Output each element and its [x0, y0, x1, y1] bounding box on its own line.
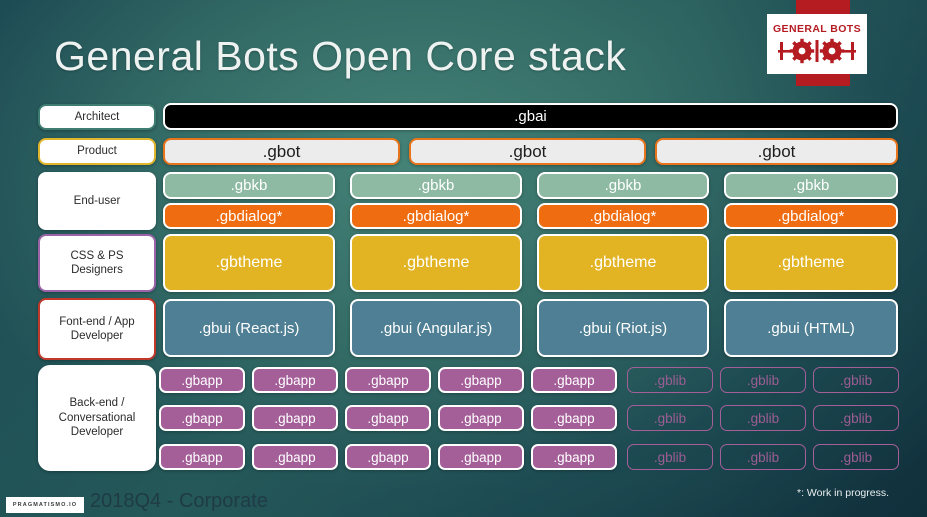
- stack-box-gbkb-1[interactable]: .gbkb: [163, 172, 335, 199]
- stack-box-gblib-r1c2-label: .gblib: [747, 373, 779, 388]
- role-label-front-end-app-developer-line1: Font-end / App: [59, 315, 134, 329]
- slide-canvas: General Bots Open Core stack GENERAL BOT…: [0, 0, 927, 517]
- stack-box-gbkb-3-label: .gbkb: [605, 177, 642, 194]
- role-label-css-ps-designers-line1: CSS & PS: [70, 249, 123, 263]
- stack-box-gbapp-r3c2-label: .gbapp: [274, 450, 315, 465]
- role-label-end-user: End-user: [38, 172, 156, 230]
- stack-box-gbapp-r1c3[interactable]: .gbapp: [345, 367, 431, 393]
- stack-box-gblib-r2c1-label: .gblib: [654, 411, 686, 426]
- stack-box-gblib-r3c3[interactable]: .gblib: [813, 444, 899, 470]
- stack-box-gbapp-r1c3-label: .gbapp: [367, 373, 408, 388]
- stack-box-gbui-react[interactable]: .gbui (React.js): [163, 299, 335, 357]
- stack-box-gblib-r1c1-label: .gblib: [654, 373, 686, 388]
- stack-box-gbkb-3[interactable]: .gbkb: [537, 172, 709, 199]
- stack-box-gbui-riot[interactable]: .gbui (Riot.js): [537, 299, 709, 357]
- stack-box-gbapp-r2c3[interactable]: .gbapp: [345, 405, 431, 431]
- stack-box-gbapp-r3c1[interactable]: .gbapp: [159, 444, 245, 470]
- role-label-back-end-line2: Conversational: [59, 411, 136, 425]
- stack-box-gbapp-r1c2-label: .gbapp: [274, 373, 315, 388]
- stack-box-gbapp-r1c1[interactable]: .gbapp: [159, 367, 245, 393]
- stack-box-gbot-3-label: .gbot: [758, 142, 796, 162]
- stack-box-gbapp-r3c3-label: .gbapp: [367, 450, 408, 465]
- stack-box-gbtheme-1[interactable]: .gbtheme: [163, 234, 335, 292]
- stack-box-gblib-r3c1-label: .gblib: [654, 450, 686, 465]
- stack-box-gblib-r3c1[interactable]: .gblib: [627, 444, 713, 470]
- stack-box-gbapp-r2c2[interactable]: .gbapp: [252, 405, 338, 431]
- stack-box-gbdialog-3-label: .gbdialog*: [590, 208, 657, 225]
- stack-box-gbui-angular-label: .gbui (Angular.js): [380, 320, 493, 337]
- stack-box-gblib-r1c2[interactable]: .gblib: [720, 367, 806, 393]
- stack-box-gbdialog-1[interactable]: .gbdialog*: [163, 203, 335, 229]
- role-label-product: Product: [38, 138, 156, 165]
- stack-box-gbot-3[interactable]: .gbot: [655, 138, 898, 165]
- role-label-css-ps-designers-line2: Designers: [71, 263, 123, 277]
- stack-box-gbdialog-4[interactable]: .gbdialog*: [724, 203, 898, 229]
- role-label-architect-text: Architect: [75, 110, 120, 124]
- page-title: General Bots Open Core stack: [54, 33, 626, 80]
- logo-card: GENERAL BOTS: [767, 14, 867, 74]
- stack-box-gbapp-r2c4[interactable]: .gbapp: [438, 405, 524, 431]
- stack-box-gbapp-r2c5[interactable]: .gbapp: [531, 405, 617, 431]
- stack-box-gblib-r2c3[interactable]: .gblib: [813, 405, 899, 431]
- stack-box-gbapp-r1c5-label: .gbapp: [553, 373, 594, 388]
- general-bots-logo: GENERAL BOTS: [767, 0, 867, 86]
- stack-box-gbapp-r3c4[interactable]: .gbapp: [438, 444, 524, 470]
- stack-box-gbapp-r3c4-label: .gbapp: [460, 450, 501, 465]
- stack-box-gblib-r3c2-label: .gblib: [747, 450, 779, 465]
- stack-box-gblib-r1c3-label: .gblib: [840, 373, 872, 388]
- stack-box-gbapp-r2c2-label: .gbapp: [274, 411, 315, 426]
- pragmatismo-logo-text: PRAGMATISMO.IO: [13, 502, 77, 508]
- stack-box-gbkb-1-label: .gbkb: [231, 177, 268, 194]
- footer-subtitle: 2018Q4 - Corporate: [90, 490, 268, 513]
- stack-box-gbdialog-4-label: .gbdialog*: [778, 208, 845, 225]
- role-label-front-end-app-developer-line2: Developer: [71, 329, 123, 343]
- stack-box-gbtheme-4[interactable]: .gbtheme: [724, 234, 898, 292]
- stack-box-gblib-r3c2[interactable]: .gblib: [720, 444, 806, 470]
- stack-box-gbapp-r2c3-label: .gbapp: [367, 411, 408, 426]
- stack-box-gblib-r2c2-label: .gblib: [747, 411, 779, 426]
- stack-box-gbapp-r3c5-label: .gbapp: [553, 450, 594, 465]
- stack-box-gbkb-4[interactable]: .gbkb: [724, 172, 898, 199]
- stack-box-gbot-1-label: .gbot: [263, 142, 301, 162]
- stack-box-gblib-r3c3-label: .gblib: [840, 450, 872, 465]
- stack-box-gbkb-4-label: .gbkb: [793, 177, 830, 194]
- two-gears-icon: [778, 38, 856, 64]
- stack-box-gblib-r2c1[interactable]: .gblib: [627, 405, 713, 431]
- role-label-back-end-conversational-developer: Back-end / Conversational Developer: [38, 365, 156, 471]
- stack-box-gblib-r1c1[interactable]: .gblib: [627, 367, 713, 393]
- stack-box-gbui-angular[interactable]: .gbui (Angular.js): [350, 299, 522, 357]
- stack-box-gbapp-r2c1-label: .gbapp: [181, 411, 222, 426]
- stack-box-gbapp-r1c5[interactable]: .gbapp: [531, 367, 617, 393]
- logo-label: GENERAL BOTS: [773, 24, 861, 35]
- stack-box-gbot-2-label: .gbot: [509, 142, 547, 162]
- role-label-product-text: Product: [77, 144, 117, 158]
- stack-box-gbdialog-2[interactable]: .gbdialog*: [350, 203, 522, 229]
- stack-box-gbdialog-2-label: .gbdialog*: [403, 208, 470, 225]
- role-label-back-end-line3: Developer: [71, 425, 123, 439]
- stack-box-gbai-label: .gbai: [514, 108, 547, 125]
- role-label-css-ps-designers: CSS & PS Designers: [38, 234, 156, 292]
- pragmatismo-logo: PRAGMATISMO.IO: [6, 497, 84, 513]
- stack-box-gbdialog-3[interactable]: .gbdialog*: [537, 203, 709, 229]
- stack-box-gbapp-r2c4-label: .gbapp: [460, 411, 501, 426]
- stack-box-gbtheme-3[interactable]: .gbtheme: [537, 234, 709, 292]
- role-label-front-end-app-developer: Font-end / App Developer: [38, 298, 156, 360]
- stack-box-gbot-1[interactable]: .gbot: [163, 138, 400, 165]
- stack-box-gbtheme-4-label: .gbtheme: [778, 254, 845, 272]
- stack-box-gbtheme-2[interactable]: .gbtheme: [350, 234, 522, 292]
- stack-box-gbdialog-1-label: .gbdialog*: [216, 208, 283, 225]
- footnote-work-in-progress: *: Work in progress.: [797, 487, 889, 499]
- stack-box-gbui-html[interactable]: .gbui (HTML): [724, 299, 898, 357]
- stack-box-gbui-riot-label: .gbui (Riot.js): [579, 320, 667, 337]
- stack-box-gbapp-r1c4-label: .gbapp: [460, 373, 501, 388]
- stack-box-gbapp-r3c2[interactable]: .gbapp: [252, 444, 338, 470]
- role-label-end-user-text: End-user: [74, 194, 121, 208]
- stack-box-gbapp-r3c3[interactable]: .gbapp: [345, 444, 431, 470]
- stack-box-gbapp-r2c1[interactable]: .gbapp: [159, 405, 245, 431]
- role-label-back-end-line1: Back-end /: [70, 396, 125, 410]
- stack-box-gbkb-2[interactable]: .gbkb: [350, 172, 522, 199]
- stack-box-gbapp-r1c2[interactable]: .gbapp: [252, 367, 338, 393]
- stack-box-gbai[interactable]: .gbai: [163, 103, 898, 130]
- stack-box-gbui-react-label: .gbui (React.js): [199, 320, 300, 337]
- stack-box-gblib-r1c3[interactable]: .gblib: [813, 367, 899, 393]
- stack-box-gblib-r2c2[interactable]: .gblib: [720, 405, 806, 431]
- stack-box-gbtheme-2-label: .gbtheme: [403, 254, 470, 272]
- stack-box-gbapp-r3c5[interactable]: .gbapp: [531, 444, 617, 470]
- stack-box-gbapp-r3c1-label: .gbapp: [181, 450, 222, 465]
- role-label-architect: Architect: [38, 104, 156, 130]
- stack-box-gbot-2[interactable]: .gbot: [409, 138, 646, 165]
- stack-box-gbtheme-3-label: .gbtheme: [590, 254, 657, 272]
- stack-box-gbapp-r1c4[interactable]: .gbapp: [438, 367, 524, 393]
- stack-box-gbui-html-label: .gbui (HTML): [767, 320, 855, 337]
- stack-box-gbapp-r2c5-label: .gbapp: [553, 411, 594, 426]
- stack-box-gbtheme-1-label: .gbtheme: [216, 254, 283, 272]
- stack-box-gbapp-r1c1-label: .gbapp: [181, 373, 222, 388]
- stack-box-gbkb-2-label: .gbkb: [418, 177, 455, 194]
- stack-box-gblib-r2c3-label: .gblib: [840, 411, 872, 426]
